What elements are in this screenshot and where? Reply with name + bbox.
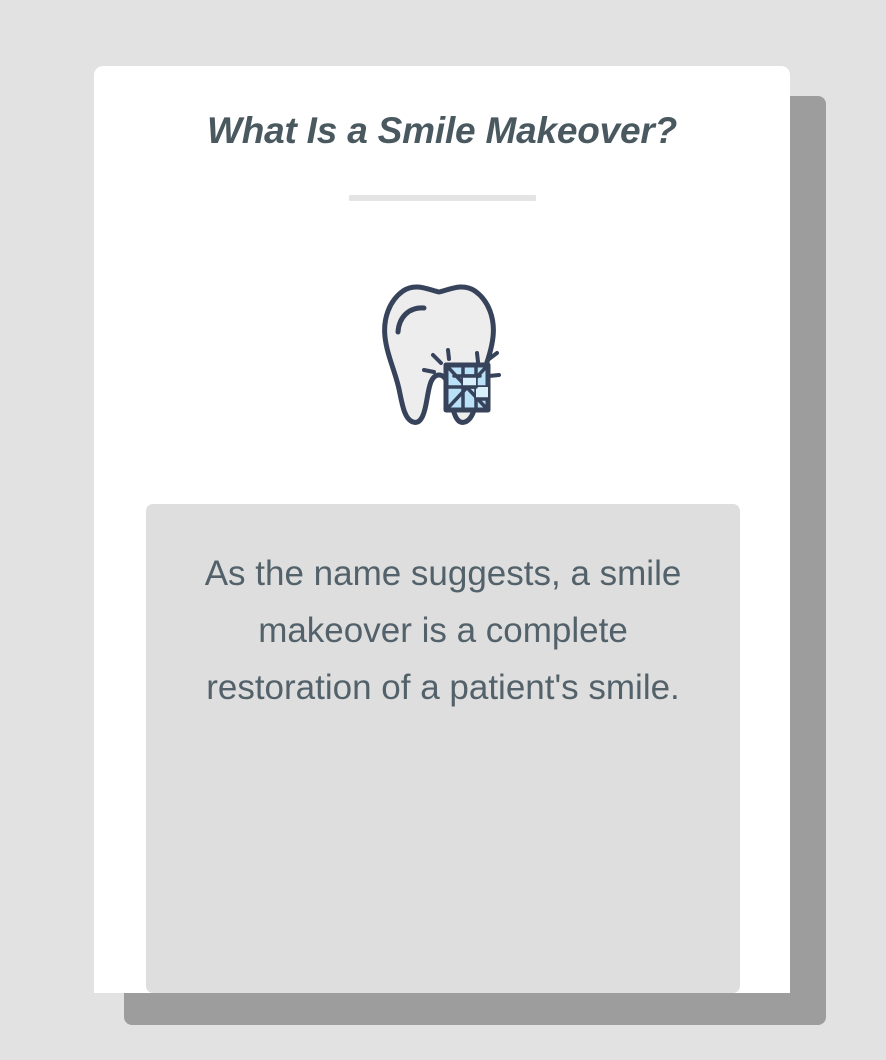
slide-canvas: What Is a Smile Makeover?	[0, 0, 886, 1060]
page-title: What Is a Smile Makeover?	[94, 110, 790, 152]
description-text: As the name suggests, a smile makeover i…	[172, 545, 714, 716]
title-divider	[349, 195, 536, 201]
description-box: As the name suggests, a smile makeover i…	[146, 504, 740, 993]
tooth-with-diamond-icon	[377, 279, 507, 429]
content-card: What Is a Smile Makeover?	[94, 66, 790, 993]
